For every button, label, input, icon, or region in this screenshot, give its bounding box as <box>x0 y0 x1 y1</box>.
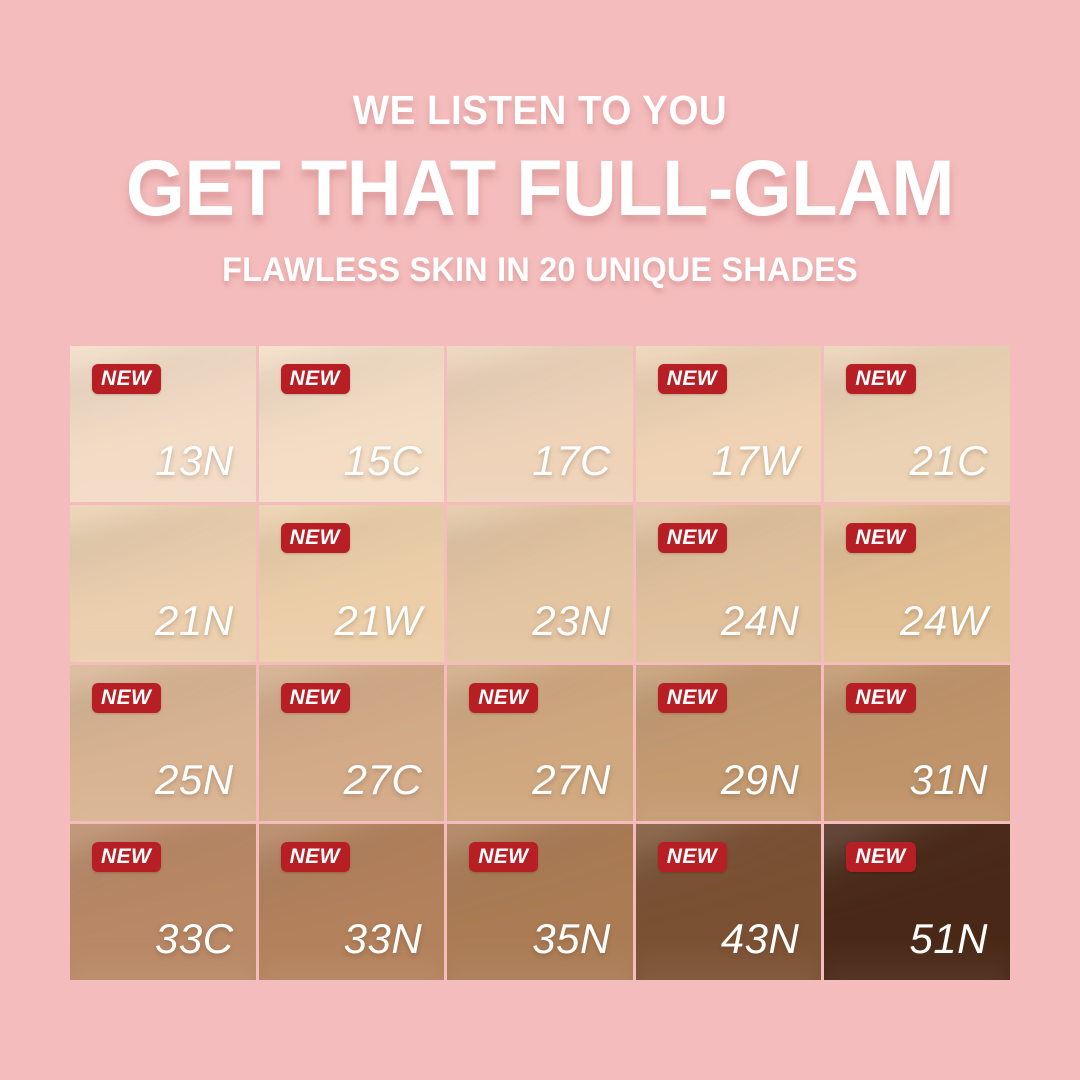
swatch-texture-overlay <box>447 346 633 440</box>
shade-code-label: 33C <box>155 918 234 960</box>
swatch-texture-overlay <box>259 824 445 925</box>
swatch-texture-overlay <box>636 665 822 766</box>
shade-tile[interactable]: NEW21W <box>259 505 445 661</box>
shade-tile[interactable]: NEW33N <box>259 824 445 980</box>
shade-tile[interactable]: NEW24N <box>636 505 822 661</box>
shade-tile[interactable]: 17C <box>447 346 633 502</box>
header-eyebrow: WE LISTEN TO YOU <box>32 0 1047 131</box>
shade-tile[interactable]: NEW27C <box>259 665 445 821</box>
shade-tile[interactable]: NEW43N <box>636 824 822 980</box>
shade-code-label: 13N <box>155 440 234 482</box>
swatch-texture-overlay <box>447 824 633 925</box>
swatch-texture-overlay <box>447 505 633 606</box>
shade-code-label: 33N <box>344 918 423 960</box>
new-badge: NEW <box>281 683 350 713</box>
shade-tile[interactable]: NEW24W <box>824 505 1010 661</box>
new-badge: NEW <box>281 842 350 872</box>
new-badge: NEW <box>92 364 161 394</box>
swatch-texture-overlay <box>70 505 256 599</box>
new-badge: NEW <box>658 842 727 872</box>
shade-tile[interactable]: NEW21C <box>824 346 1010 502</box>
shade-code-label: 24W <box>900 600 988 642</box>
page-title: GET THAT FULL-GLAM <box>22 131 1059 227</box>
swatch-texture-overlay <box>447 346 633 447</box>
new-badge: NEW <box>658 523 727 553</box>
swatch-texture-overlay <box>259 346 445 447</box>
shade-tile[interactable]: NEW35N <box>447 824 633 980</box>
swatch-texture-overlay <box>636 824 822 925</box>
shade-tile[interactable]: NEW15C <box>259 346 445 502</box>
new-badge: NEW <box>658 683 727 713</box>
swatch-texture-overlay <box>447 665 633 766</box>
shade-tile[interactable]: 23N <box>447 505 633 661</box>
shade-code-label: 17W <box>712 440 800 482</box>
new-badge: NEW <box>469 683 538 713</box>
shade-code-label: 35N <box>532 918 611 960</box>
swatch-texture-overlay <box>636 505 822 606</box>
shade-code-label: 25N <box>155 759 234 801</box>
shade-tile[interactable]: 21N <box>70 505 256 661</box>
shade-tile[interactable]: NEW13N <box>70 346 256 502</box>
swatch-texture-overlay <box>636 346 822 447</box>
shade-code-label: 27N <box>532 759 611 801</box>
swatch-texture-overlay <box>824 505 1010 606</box>
new-badge: NEW <box>469 842 538 872</box>
swatch-texture-overlay <box>70 665 256 766</box>
header-subhead: FLAWLESS SKIN IN 20 UNIQUE SHADES <box>27 227 1053 287</box>
shade-code-label: 17C <box>532 440 611 482</box>
shade-code-label: 21C <box>909 440 988 482</box>
new-badge: NEW <box>846 523 915 553</box>
swatch-texture-overlay <box>824 665 1010 766</box>
shade-code-label: 43N <box>721 918 800 960</box>
shade-code-label: 51N <box>909 918 988 960</box>
new-badge: NEW <box>92 683 161 713</box>
swatch-texture-overlay <box>259 505 445 606</box>
new-badge: NEW <box>658 364 727 394</box>
new-badge: NEW <box>92 842 161 872</box>
swatch-texture-overlay <box>824 346 1010 447</box>
header: WE LISTEN TO YOU GET THAT FULL-GLAM FLAW… <box>0 0 1080 287</box>
new-badge: NEW <box>281 523 350 553</box>
swatch-texture-overlay <box>70 824 256 925</box>
shade-tile[interactable]: NEW29N <box>636 665 822 821</box>
swatch-texture-overlay <box>447 505 633 599</box>
new-badge: NEW <box>846 683 915 713</box>
shade-code-label: 15C <box>344 440 423 482</box>
shade-tile[interactable]: NEW27N <box>447 665 633 821</box>
shade-tile[interactable]: NEW51N <box>824 824 1010 980</box>
shade-tile[interactable]: NEW17W <box>636 346 822 502</box>
new-badge: NEW <box>846 364 915 394</box>
shade-code-label: 24N <box>721 600 800 642</box>
swatch-texture-overlay <box>259 665 445 766</box>
shade-code-label: 27C <box>344 759 423 801</box>
shade-code-label: 23N <box>532 600 611 642</box>
swatch-texture-overlay <box>824 824 1010 925</box>
swatch-texture-overlay <box>70 505 256 606</box>
new-badge: NEW <box>281 364 350 394</box>
swatch-texture-overlay <box>70 346 256 447</box>
new-badge: NEW <box>846 842 915 872</box>
shade-tile[interactable]: NEW31N <box>824 665 1010 821</box>
shade-tile[interactable]: NEW33C <box>70 824 256 980</box>
shade-grid: NEW13NNEW15C17CNEW17WNEW21C21NNEW21W23NN… <box>70 346 1010 980</box>
shade-tile[interactable]: NEW25N <box>70 665 256 821</box>
shade-code-label: 29N <box>721 759 800 801</box>
shade-code-label: 31N <box>909 759 988 801</box>
shade-code-label: 21N <box>155 600 234 642</box>
shade-code-label: 21W <box>334 600 422 642</box>
